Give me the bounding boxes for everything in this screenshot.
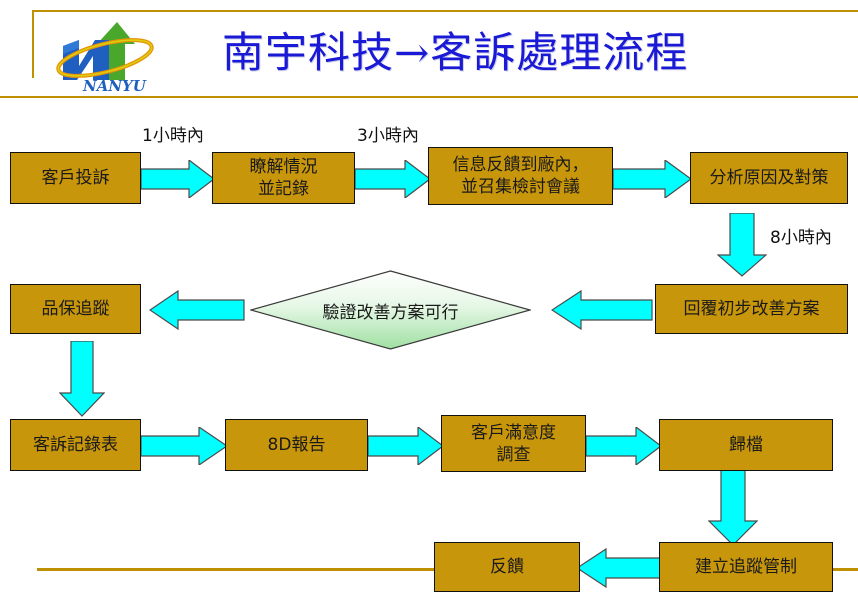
arrow-left-reply-to-diamond [551, 290, 653, 330]
box-reply-preliminary-plan[interactable]: 回覆初步改善方案 [655, 284, 848, 334]
arrow-left-diamond-to-qa-tracking [149, 290, 245, 330]
box-feedback[interactable]: 反饋 [434, 542, 580, 592]
arrow-right-complaint-to-understand [141, 160, 215, 198]
arrow-down-analyze-to-reply [717, 213, 767, 277]
box-customer-satisfaction-survey[interactable]: 客戶滿意度 調查 [441, 415, 586, 472]
arrow-right-feedback-to-analyze [613, 160, 692, 198]
header-top-rule [32, 10, 858, 12]
nanyu-logo: NANYU [45, 18, 165, 96]
arrow-right-8d-to-satisfaction [368, 427, 444, 465]
logo-wordmark: NANYU [82, 77, 147, 95]
box-analyze-cause-countermeasure[interactable]: 分析原因及對策 [690, 152, 848, 204]
note-within-3-hours: 3小時內 [357, 126, 419, 146]
box-customer-complaint[interactable]: 客戶投訴 [10, 152, 141, 204]
note-within-8-hours: 8小時內 [770, 228, 832, 248]
arrow-right-record-form-to-8d [141, 427, 228, 465]
box-quality-assurance-tracking[interactable]: 品保追蹤 [10, 284, 141, 334]
box-archive[interactable]: 歸檔 [659, 419, 833, 471]
arrow-right-satisfaction-to-archive [586, 427, 662, 465]
header-left-rule [32, 10, 34, 78]
page-title: 南宇科技→客訴處理流程 [222, 24, 692, 84]
box-complaint-record-form[interactable]: 客訴記錄表 [10, 419, 141, 471]
arrow-left-tracking-control-to-feedback [576, 548, 664, 588]
box-eight-d-report[interactable]: 8D報告 [225, 419, 368, 471]
header-divider-rule [0, 96, 858, 98]
note-within-1-hour: 1小時內 [142, 126, 204, 146]
arrow-down-qa-to-record-form [59, 341, 105, 417]
box-establish-tracking-control[interactable]: 建立追蹤管制 [659, 542, 833, 592]
diamond-verify-improvement-feasible[interactable]: 驗證改善方案可行 [250, 270, 531, 350]
box-understand-and-record[interactable]: 瞭解情況 並記錄 [212, 152, 355, 204]
slide-canvas: NANYU 南宇科技→客訴處理流程 客戶投訴 瞭解情況 並記錄 信息反饋到廠內，… [0, 0, 858, 606]
arrow-right-understand-to-feedback [355, 160, 431, 198]
diamond-label: 驗證改善方案可行 [250, 270, 531, 350]
arrow-down-archive-to-tracking-control [708, 469, 758, 546]
box-feedback-to-plant[interactable]: 信息反饋到廠內， 並召集檢討會議 [428, 147, 613, 205]
